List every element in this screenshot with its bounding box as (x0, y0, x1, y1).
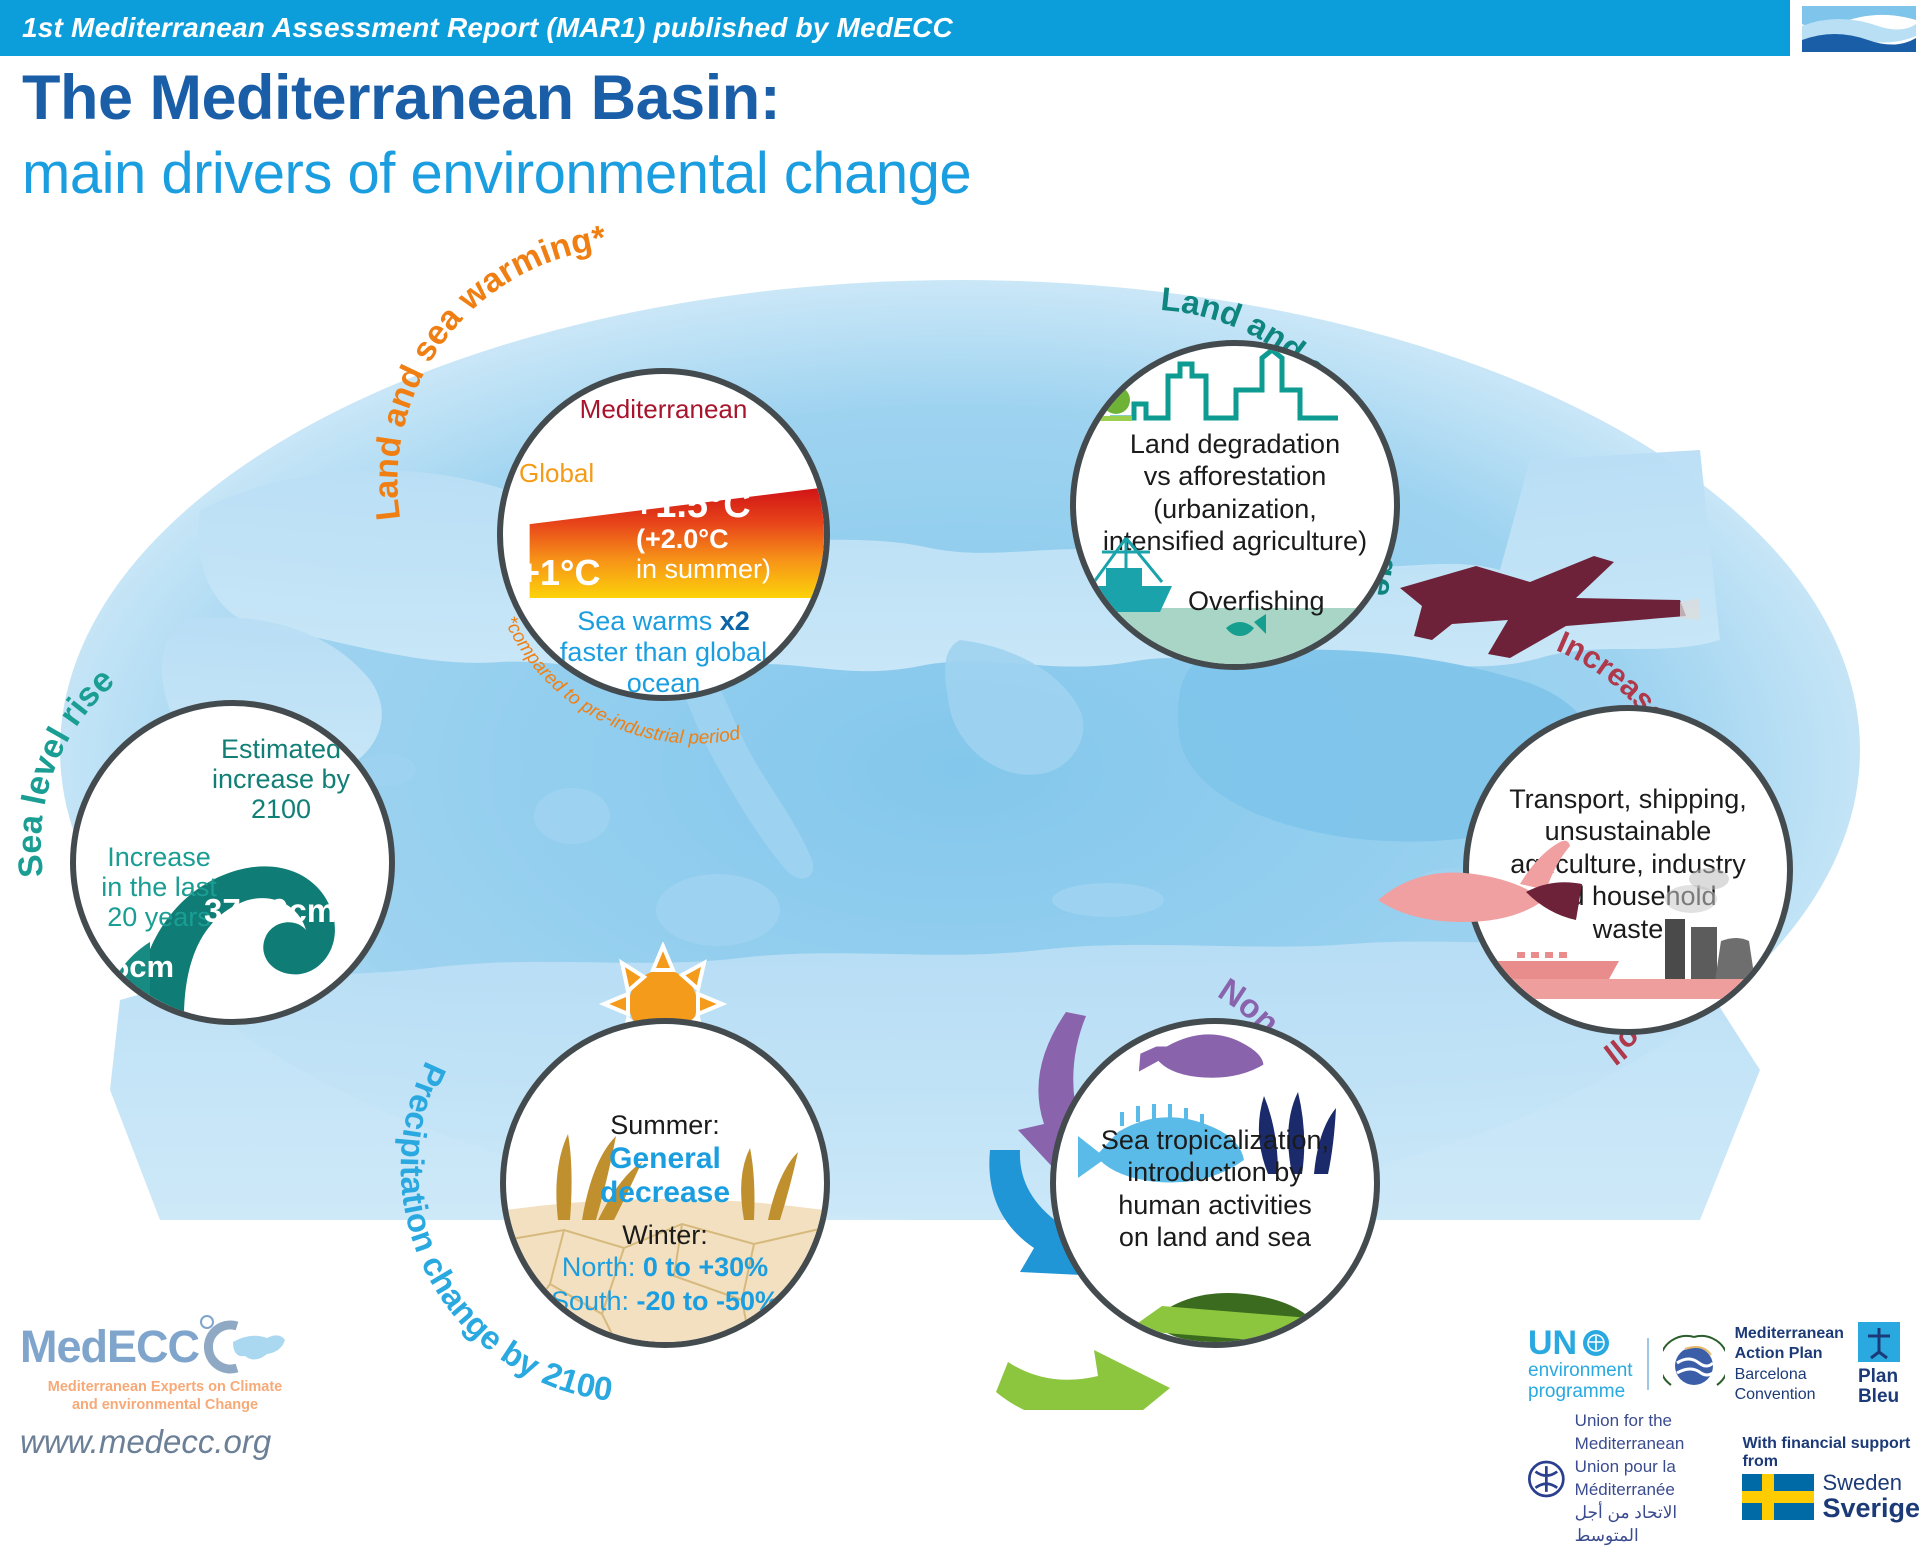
ufm-l3: الاتحاد من أجل المتوسط (1575, 1503, 1677, 1545)
nn-l3: human activities (1118, 1190, 1312, 1220)
medecc-wordmark: MedECC (20, 1321, 199, 1373)
land-use-node-inner: Land degradation vs afforestation (urban… (1076, 346, 1394, 664)
summer-value: General decrease (506, 1142, 824, 1209)
plan-bleu-l2: Bleu (1858, 1386, 1899, 1407)
mediterranean-warming-value: +1.5°C (633, 484, 751, 527)
global-warming-value: +1°C (519, 552, 600, 594)
medecc-url[interactable]: www.medecc.org (20, 1423, 320, 1461)
summer-label: Summer: (506, 1110, 824, 1141)
nn-l1: Sea tropicalization, (1101, 1125, 1329, 1155)
plan-bleu-icon (1858, 1322, 1900, 1362)
slr-inc-l3: 20 years (107, 902, 211, 932)
global-label: Global (519, 458, 594, 489)
overfishing-label: Overfishing (1188, 586, 1325, 617)
page-title: The Mediterranean Basin: (22, 62, 780, 134)
sea-warming-line3: ocean (627, 668, 701, 695)
logo-divider (1647, 1338, 1649, 1390)
medecc-tagline-l1: Mediterranean Experts on Climate (48, 1379, 283, 1395)
warming-node-inner: Mediterranean Global +1.5°C (+2.0°C in s… (503, 374, 824, 695)
precipitation-node-inner: Summer: General decrease Winter: North: … (506, 1024, 824, 1342)
medecc-tagline-l2: and environmental Change (72, 1397, 258, 1413)
mediterranean-summer-note: in summer) (636, 554, 771, 585)
non-native-text: Sea tropicalization, introduction by hum… (1056, 1124, 1374, 1254)
un-line2: environment (1528, 1360, 1633, 1381)
mediterranean-summer-value: (+2.0°C (636, 524, 729, 555)
non-native-node-inner: Sea tropicalization, introduction by hum… (1056, 1024, 1374, 1342)
medecc-basin-icon (191, 1314, 287, 1376)
header-banner-text: 1st Mediterranean Assessment Report (MAR… (0, 12, 953, 44)
sweden-en: Sweden (1822, 1471, 1920, 1494)
medecc-tagline: Mediterranean Experts on Climate and env… (20, 1378, 310, 1414)
barcelona-convention-emblem-icon (1663, 1333, 1725, 1395)
sea-level-node[interactable]: Estimated increase by 2100 Increase in t… (70, 700, 395, 1025)
slr-est-l2: increase by (212, 764, 350, 794)
nn-l2: introduction by (1127, 1157, 1303, 1187)
slr-est-l1: Estimated (221, 734, 341, 764)
partner-row-bottom: Union for the Mediterranean Union pour l… (1528, 1410, 1920, 1548)
flamingo-icon (1370, 820, 1630, 980)
plan-bleu-logo: Plan Bleu (1858, 1322, 1900, 1407)
page-subtitle: main drivers of environmental change (22, 140, 971, 207)
slr-inc-l2: in the last (101, 872, 217, 902)
precipitation-node[interactable]: Summer: General decrease Winter: North: … (500, 1018, 830, 1348)
un-logo-text: UN (1528, 1326, 1577, 1360)
non-native-node[interactable]: Sea tropicalization, introduction by hum… (1050, 1018, 1380, 1348)
sweden-sv: Sverige (1822, 1494, 1920, 1522)
sea-level-future-label: Estimated increase by 2100 (186, 734, 376, 825)
header-banner: 1st Mediterranean Assessment Report (MAR… (0, 0, 1790, 56)
sea-level-future-value: 37-90cm (204, 892, 336, 930)
wave-logo-icon (1798, 0, 1920, 56)
un-line3: programme (1528, 1381, 1625, 1402)
land-use-node[interactable]: Land degradation vs afforestation (urban… (1070, 340, 1400, 670)
sea-warming-note: Sea warms x2 faster than global ocean (503, 606, 824, 695)
warming-node[interactable]: Mediterranean Global +1.5°C (+2.0°C in s… (497, 368, 830, 701)
winter-north-row: North: 0 to +30% (506, 1252, 824, 1283)
partner-row-top: UN environment programme Mediterra (1528, 1322, 1900, 1407)
winter-south-label: South: (551, 1286, 637, 1316)
header-wave-logo (1798, 0, 1920, 56)
map-line4: Convention (1735, 1386, 1816, 1403)
swedish-flag-icon (1742, 1474, 1814, 1520)
summer-value-l1: General (609, 1142, 721, 1175)
summer-value-l2: decrease (600, 1176, 730, 1209)
sea-level-past-value: 6cm (112, 949, 174, 985)
ufm-emblem-icon (1528, 1452, 1565, 1506)
mediterranean-label: Mediterranean (503, 394, 824, 425)
medecc-logo: MedECC Mediterranean Experts on Climate … (20, 1318, 320, 1461)
winter-label: Winter: (506, 1220, 824, 1251)
nn-l4: on land and sea (1119, 1222, 1311, 1252)
map-line3: Barcelona (1735, 1366, 1807, 1383)
airplane-icon (1380, 540, 1700, 840)
winter-south-value: -20 to -50% (637, 1286, 780, 1316)
support-label: With financial support from (1742, 1435, 1920, 1471)
sea-warming-multiplier: x2 (720, 606, 750, 636)
plan-bleu-l1: Plan (1858, 1366, 1898, 1387)
winter-south-row: South: -20 to -50% (506, 1286, 824, 1317)
un-emblem-icon (1581, 1328, 1611, 1358)
winter-north-value: 0 to +30% (643, 1252, 768, 1282)
map-line2: Action Plan (1735, 1345, 1823, 1362)
map-line1: Mediterranean (1735, 1325, 1844, 1342)
ufm-l1: Union for the Mediterranean (1575, 1411, 1685, 1453)
winter-north-label: North: (562, 1252, 643, 1282)
sea-warming-line1: Sea warms (577, 606, 720, 636)
slr-est-l3: 2100 (251, 794, 311, 824)
sea-level-node-inner: Estimated increase by 2100 Increase in t… (76, 706, 389, 1019)
sweden-support-logo: With financial support from Sweden Sveri… (1742, 1435, 1920, 1522)
slr-inc-l1: Increase (107, 842, 211, 872)
sea-warming-line2: faster than global (560, 637, 767, 667)
un-environment-logo: UN environment programme (1528, 1326, 1633, 1404)
